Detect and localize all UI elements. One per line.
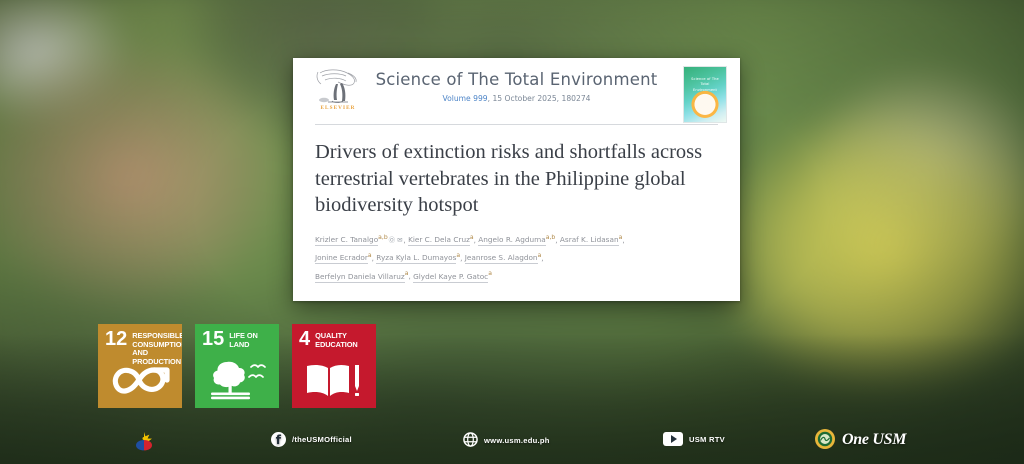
website-link[interactable]: www.usm.edu.ph [463,432,550,449]
author-name[interactable]: Krizler C. Tanalgo [315,235,378,246]
author-name[interactable]: Jonine Ecrador [315,253,368,264]
sdg-badge-15-number: 15 [202,331,224,348]
orcid-icon[interactable]: Ⓞ [389,233,395,249]
youtube-link[interactable]: USM RTV [663,432,725,446]
journal-cover-caption: Science of The Total Environment [688,77,722,93]
tree-birds-icon [195,357,279,403]
author-separator: , [622,235,624,244]
sdg-badge-12-number: 12 [105,331,127,348]
author-name[interactable]: Asraf K. Lidasan [560,235,619,246]
sdg-badge-row: 12 Responsible Consumption and Productio… [98,324,376,408]
sdg-badge-4-label: Quality Education [315,331,376,349]
elsevier-wordmark: ELSEVIER [312,105,364,111]
globe-icon [463,432,478,449]
author-line: Jonine Ecradora, Ryza Kyla L. Dumayosa, … [315,249,718,267]
author-affiliation-marker: a,b [546,234,556,241]
website-url: www.usm.edu.ph [484,436,550,445]
sdg-badge-4: 4 Quality Education [292,324,376,408]
author-line: Krizler C. Tanalgoa,bⓄ✉, Kier C. Dela Cr… [315,231,718,249]
author-separator: , [541,253,543,262]
author-affiliation-marker: a [488,270,492,277]
author-name[interactable]: Berfelyn Daniela Villaruz [315,272,405,283]
journal-heading: Science of The Total Environment Volume … [293,70,740,103]
infinity-loop-icon [98,357,182,403]
journal-card-header: ELSEVIER Science of The Total Environmen… [293,58,740,120]
journal-card-body: Drivers of extinction risks and shortfal… [293,125,740,285]
sdg-badge-15-label: Life on Land [229,331,279,349]
journal-article-card: ELSEVIER Science of The Total Environmen… [293,58,740,301]
facebook-link[interactable]: f /theUSMOfficial [271,432,352,447]
philippine-government-seal-icon [131,429,157,453]
author-name[interactable]: Ryza Kyla L. Dumayos [376,253,456,264]
author-list: Krizler C. Tanalgoa,bⓄ✉, Kier C. Dela Cr… [315,231,718,285]
envelope-icon[interactable]: ✉ [397,233,402,249]
article-title[interactable]: Drivers of extinction risks and shortfal… [315,139,718,219]
open-book-pencil-icon [292,357,376,403]
facebook-handle: /theUSMOfficial [292,435,352,444]
journal-name: Science of The Total Environment [293,70,740,89]
journal-volume-link[interactable]: Volume 999 [442,94,487,103]
sdg-badge-4-heading: 4 Quality Education [292,324,376,349]
journal-issue-rest: , 15 October 2025, 180274 [488,94,591,103]
usm-university-seal-icon [814,428,836,452]
facebook-icon: f [271,432,286,447]
sdg-badge-4-number: 4 [299,331,310,348]
youtube-label: USM RTV [689,435,725,444]
sdg-badge-15-heading: 15 Life on Land [195,324,279,349]
author-line: Berfelyn Daniela Villaruza, Glydel Kaye … [315,267,718,285]
sdg-badge-12: 12 Responsible Consumption and Productio… [98,324,182,408]
author-name[interactable]: Glydel Kaye P. Gatoc [413,272,488,283]
slide-footer: f /theUSMOfficial www.usm.edu.ph USM RTV [0,418,1024,464]
one-usm-branding: One USM [814,428,906,452]
author-name[interactable]: Kier C. Dela Cruz [408,235,470,246]
author-name[interactable]: Angelo R. Agduma [478,235,545,246]
author-affiliation-marker: a,b [378,234,388,241]
presentation-slide: ELSEVIER Science of The Total Environmen… [0,0,1024,464]
one-usm-label: One USM [842,431,906,449]
youtube-icon [663,432,683,446]
journal-issue-line: Volume 999, 15 October 2025, 180274 [293,94,740,103]
author-name[interactable]: Jeanrose S. Alagdon [465,253,538,264]
sdg-badge-15: 15 Life on Land [195,324,279,408]
journal-cover-thumbnail[interactable]: Science of The Total Environment [683,66,727,123]
